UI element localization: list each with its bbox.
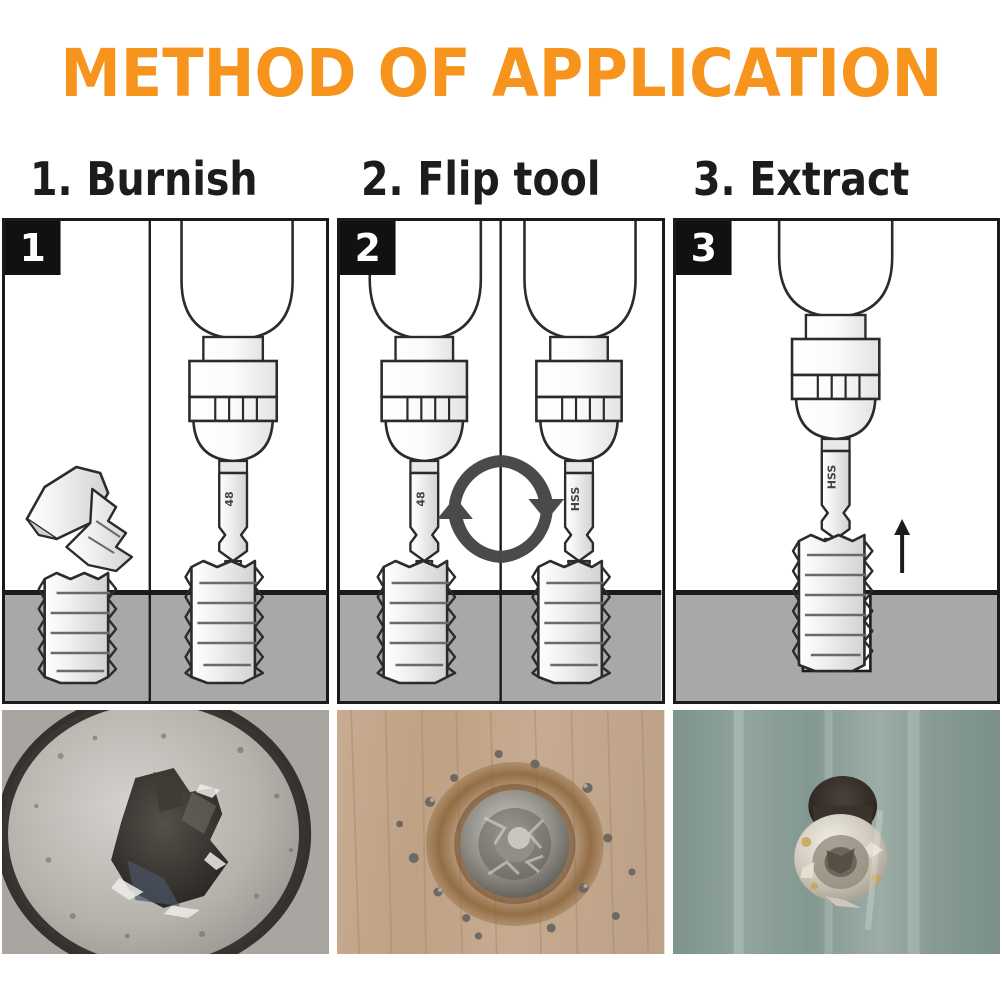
photo-damaged-screw-head — [2, 710, 329, 954]
step-badge-3: 3 — [676, 221, 732, 275]
up-arrow-side — [894, 519, 910, 573]
diagram-row: 48 1 — [0, 218, 1002, 704]
screw-left-step-2 — [378, 561, 455, 683]
step-badge-2-number: 2 — [355, 226, 381, 270]
step-badge-3-number: 3 — [690, 226, 716, 270]
photo-burnished-screw-in-wood — [337, 710, 664, 954]
bit-label-step-1: 48 — [223, 491, 236, 506]
screw-being-extracted — [793, 535, 872, 671]
diagram-panel-step-3: HSS — [673, 218, 1000, 704]
step-1-illustration: 48 1 — [5, 221, 326, 701]
diagram-panel-step-1: 48 1 — [2, 218, 329, 704]
bit-label-step-2-left: 48 — [415, 491, 428, 506]
broken-screw-head — [27, 467, 132, 571]
steps-heading-row: 1. Burnish 2. Flip tool 3. Extract — [0, 140, 1002, 218]
photo-row — [0, 704, 1002, 954]
title-bar: METHOD OF APPLICATION — [0, 0, 1002, 140]
step-badge-1: 1 — [5, 221, 61, 275]
screw-right-step-2 — [533, 561, 610, 683]
step-heading-2: 2. Flip tool — [335, 140, 666, 218]
bit-label-step-2-right: HSS — [569, 487, 582, 512]
step-badge-1-number: 1 — [20, 226, 46, 270]
step-heading-1: 1. Burnish — [4, 140, 335, 218]
photo-extracted-screw-in-metal — [673, 710, 1000, 954]
broken-screw-shank-left — [39, 573, 116, 683]
chuck-ribbed-band — [189, 397, 276, 421]
step-badge-2: 2 — [340, 221, 396, 275]
page-title: METHOD OF APPLICATION — [60, 41, 942, 107]
step-heading-3: 3. Extract — [667, 140, 998, 218]
drill-tool-right-step-2 — [525, 221, 636, 461]
drill-tool-right — [182, 221, 293, 461]
step-heading-3-label: 3. Extract — [693, 156, 909, 202]
drill-tool-center — [779, 221, 892, 439]
screw-right-step-1 — [185, 561, 262, 683]
step-heading-2-label: 2. Flip tool — [361, 156, 600, 202]
diagram-panel-step-2: 48 — [337, 218, 664, 704]
step-3-illustration: HSS — [676, 221, 997, 701]
step-heading-1-label: 1. Burnish — [30, 156, 258, 202]
step-2-illustration: 48 — [340, 221, 661, 701]
bit-label-step-3: HSS — [825, 465, 838, 490]
